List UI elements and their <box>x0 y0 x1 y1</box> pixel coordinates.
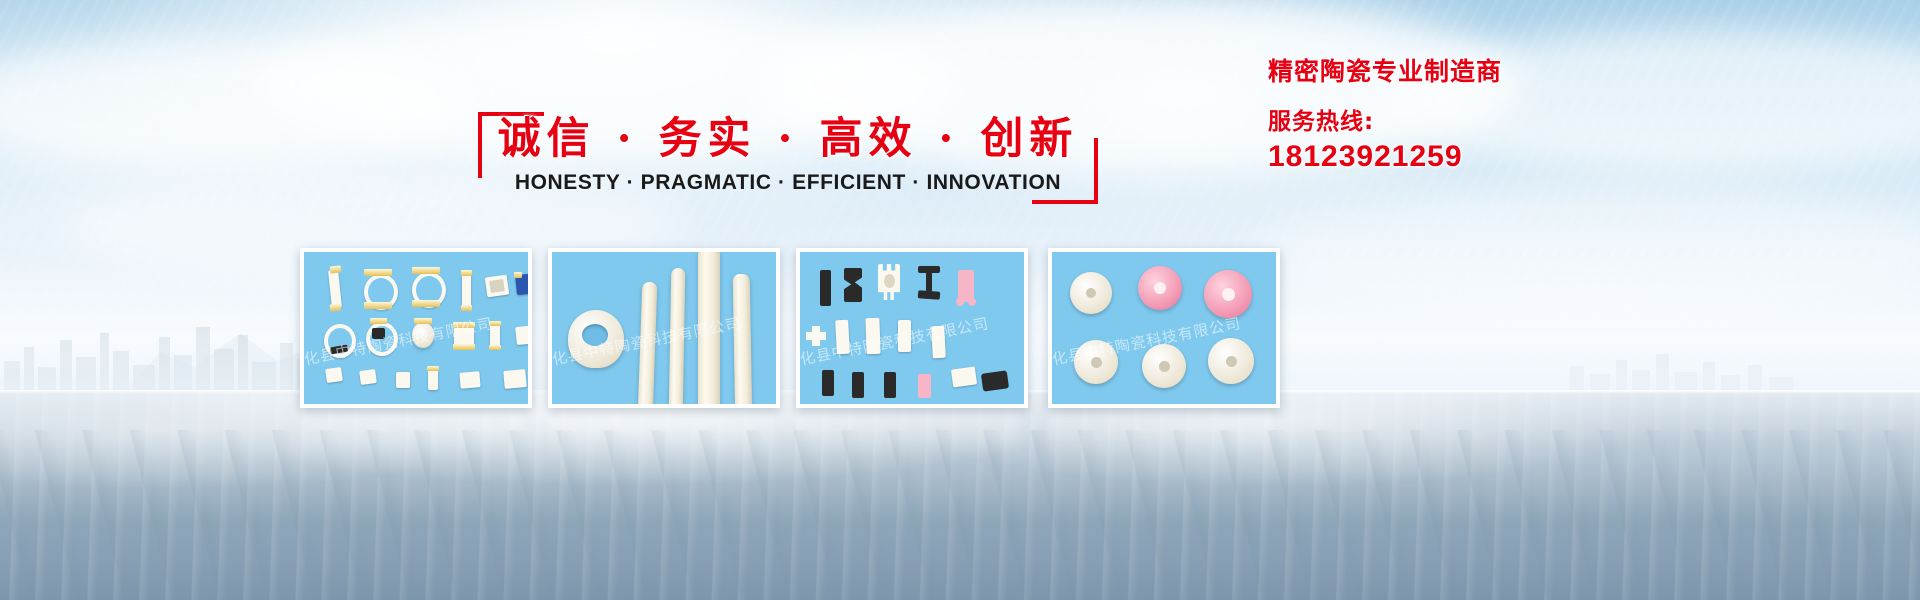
contact-block: 精密陶瓷专业制造商 服务热线: 18123921259 <box>1268 52 1908 174</box>
panel-3-reflection <box>796 400 1020 460</box>
company-tagline: 精密陶瓷专业制造商 <box>1268 52 1908 88</box>
hotline-label: 服务热线: <box>1268 102 1908 136</box>
slogan-chinese: 诚信 · 务实 · 高效 · 创新 <box>478 104 1098 166</box>
product-panel-3[interactable]: 新化县中特陶瓷科技有限公司 <box>796 248 1028 408</box>
product-panel-4[interactable]: 新化县中特陶瓷科技有限公司 <box>1048 248 1280 408</box>
hotline-number[interactable]: 18123921259 <box>1268 140 1908 174</box>
panel-1-reflection <box>300 400 524 460</box>
product-panel-2[interactable]: 新化县中特陶瓷科技有限公司 <box>548 248 780 408</box>
slogan-english: HONESTY · PRAGMATIC · EFFICIENT · INNOVA… <box>478 171 1098 195</box>
watermark-panel-3: 新化县中特陶瓷科技有限公司 <box>796 300 1028 372</box>
panel-4-reflection <box>1048 400 1272 460</box>
hero-banner: 诚信 · 务实 · 高效 · 创新 HONESTY · PRAGMATIC · … <box>0 0 1920 600</box>
slogan-block: 诚信 · 务实 · 高效 · 创新 HONESTY · PRAGMATIC · … <box>478 112 1098 204</box>
panel-2-reflection <box>548 400 772 460</box>
product-panel-1[interactable]: 新化县中特陶瓷科技有限公司 <box>300 248 532 408</box>
